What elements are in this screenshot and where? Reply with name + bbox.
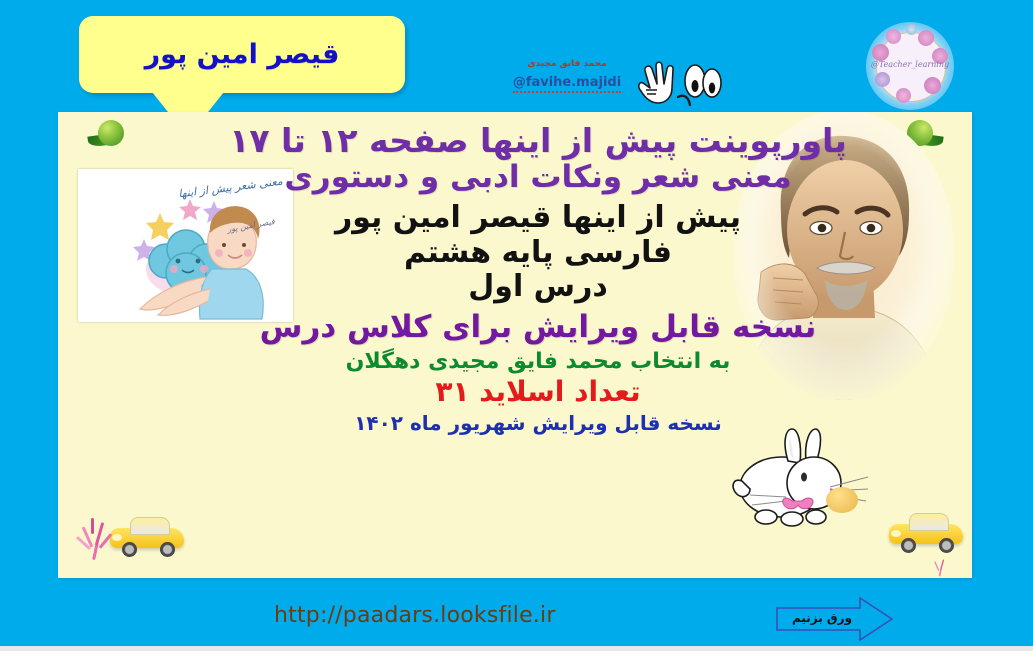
green-fruit-icon — [88, 118, 128, 150]
logo-text: @Teacher_learning — [866, 60, 954, 69]
title-line-2: معنی شعر ونکات ادبی و دستوری — [228, 161, 848, 194]
title-line-7: به انتخاب محمد فایق مجیدی دهگلان — [228, 350, 848, 373]
logo-flower-petal — [872, 44, 889, 61]
watermark: محمد فایق مجیدی favihe.majidi@ — [512, 58, 622, 93]
logo-flower-petal — [896, 88, 911, 103]
website-url[interactable]: http://paadars.looksfile.ir — [274, 603, 556, 628]
rabbit-icon — [730, 425, 870, 535]
speech-bubble: قیصر امین پور — [79, 16, 405, 93]
title-line-1: پاورپوینت پیش از اینها صفحه ۱۲ تا ۱۷ — [228, 124, 848, 159]
logo-flower-petal — [886, 29, 901, 44]
title-line-5: درس اول — [228, 271, 848, 303]
title-line-6: نسخه قابل ویرایش برای کلاس درس — [228, 311, 848, 344]
watermark-email: favihe.majidi@ — [513, 75, 621, 93]
firework-icon — [80, 516, 114, 562]
logo-flower-petal — [906, 24, 917, 35]
logo-flower-petal — [918, 30, 934, 46]
bottom-strip — [0, 646, 1033, 651]
firework-icon — [933, 557, 948, 578]
hand-and-eyes-icon — [633, 57, 733, 112]
content-panel: معنی شعر پیش از اینها قیصر امین پور پاور… — [58, 112, 972, 578]
title-line-3: پیش از اینها قیصر امین پور — [228, 202, 848, 234]
yellow-car-icon — [108, 514, 186, 556]
teacher-learning-logo: @Teacher_learning — [866, 22, 954, 110]
watermark-author-name: محمد فایق مجیدی — [512, 58, 622, 71]
logo-flower-petal — [924, 77, 941, 94]
slide-canvas: قیصر امین پور محمد فایق مجیدی favihe.maj… — [0, 0, 1033, 651]
speech-bubble-text: قیصر امین پور — [79, 16, 405, 93]
yellow-car-icon — [887, 510, 965, 552]
title-text-block: پاورپوینت پیش از اینها صفحه ۱۲ تا ۱۷ معن… — [228, 116, 848, 434]
slide-count-line: تعداد اسلاید ۳۱ — [228, 377, 848, 407]
next-slide-arrow-button[interactable]: ورق بزنیم — [776, 597, 893, 642]
title-line-4: فارسی پایه هشتم — [228, 237, 848, 269]
golden-egg-icon — [826, 487, 858, 513]
next-slide-arrow-label: ورق بزنیم — [786, 611, 858, 625]
logo-flower-petal — [875, 72, 890, 87]
